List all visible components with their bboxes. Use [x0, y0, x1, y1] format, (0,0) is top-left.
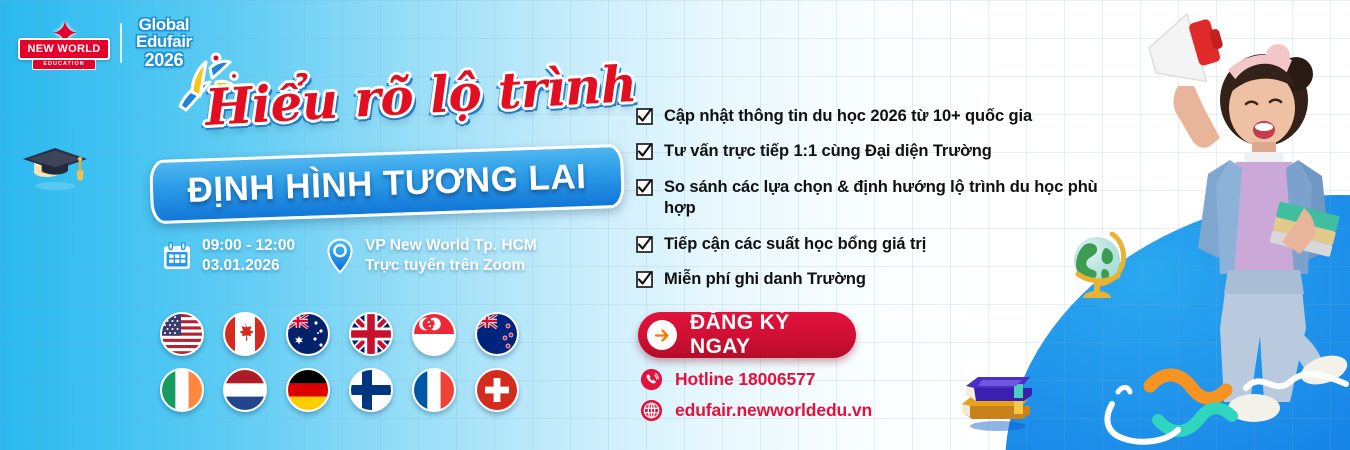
- list-item: Tư vấn trực tiếp 1:1 cùng Đại diện Trườn…: [636, 141, 1106, 162]
- flag-switzerland: [475, 368, 519, 412]
- brand-logo-group[interactable]: ✦ NEW WORLD EDUCATION Global Edufair 202…: [18, 16, 192, 69]
- splash-outline-icon: [1098, 382, 1208, 448]
- flag-germany: [286, 368, 330, 412]
- arrow-right-icon: [653, 326, 672, 345]
- event-meta: 09:00 - 12:00 03.01.2026 VP New World Tp…: [162, 236, 537, 276]
- event-online: Trực tuyến trên Zoom: [365, 256, 537, 276]
- map-pin-icon: [325, 237, 355, 275]
- checkbox-checked-icon: [636, 143, 653, 160]
- event-datetime-text: 09:00 - 12:00 03.01.2026: [202, 236, 295, 276]
- logo-divider: [120, 23, 122, 63]
- flag-finland: [349, 368, 393, 412]
- logo-subtitle: EDUCATION: [32, 59, 96, 70]
- benefit-text: Tư vấn trực tiếp 1:1 cùng Đại diện Trườn…: [664, 141, 992, 162]
- benefit-text: Cập nhật thông tin du học 2026 từ 10+ qu…: [664, 106, 1032, 127]
- country-flags: [160, 312, 580, 424]
- edufair-line-1: Global: [136, 16, 192, 33]
- graduation-cap-icon: [14, 118, 96, 200]
- headline-ribbon: ĐỊNH HÌNH TƯƠNG LAI: [149, 144, 625, 225]
- promo-banner: ✦ NEW WORLD EDUCATION Global Edufair 202…: [0, 0, 1350, 450]
- new-world-education-logo[interactable]: ✦ NEW WORLD EDUCATION: [18, 20, 106, 66]
- checkbox-checked-icon: [636, 236, 653, 253]
- flag-row-2: [160, 368, 580, 412]
- list-item: Cập nhật thông tin du học 2026 từ 10+ qu…: [636, 106, 1106, 127]
- website-text: edufair.newworldedu.vn: [675, 400, 872, 421]
- list-item: Tiếp cận các suất học bổng giá trị: [636, 234, 1106, 255]
- flag-united-kingdom: [349, 312, 393, 356]
- benefit-text: Miễn phí ghi danh Trường: [664, 269, 866, 290]
- checkbox-checked-icon: [636, 179, 653, 196]
- phone-icon: [640, 368, 663, 391]
- event-date: 03.01.2026: [202, 256, 295, 276]
- books-stack-icon: [952, 360, 1044, 434]
- cta-label: ĐĂNG KÝ NGAY: [690, 311, 856, 359]
- event-venue: VP New World Tp. HCM: [365, 236, 537, 256]
- list-item: Miễn phí ghi danh Trường: [636, 269, 1106, 290]
- benefits-list: Cập nhật thông tin du học 2026 từ 10+ qu…: [636, 106, 1106, 305]
- contact-info: Hotline 18006577 edufair.newworldedu.vn: [640, 368, 872, 430]
- flag-row-1: [160, 312, 580, 356]
- hotline-text: Hotline 18006577: [675, 369, 815, 390]
- flag-australia: [286, 312, 330, 356]
- calendar-icon: [162, 241, 192, 271]
- confetti-squiggle-white-icon: [1240, 360, 1350, 410]
- benefit-text: Tiếp cận các suất học bổng giá trị: [664, 234, 926, 255]
- list-item: So sánh các lựa chọn & định hướng lộ trì…: [636, 177, 1106, 220]
- checkbox-checked-icon: [636, 108, 653, 125]
- checkbox-checked-icon: [636, 271, 653, 288]
- headline-ribbon-text: ĐỊNH HÌNH TƯƠNG LAI: [152, 147, 622, 221]
- website-row[interactable]: edufair.newworldedu.vn: [640, 399, 872, 422]
- event-location: VP New World Tp. HCM Trực tuyến trên Zoo…: [325, 236, 537, 276]
- flag-netherlands: [223, 368, 267, 412]
- flag-new-zealand: [475, 312, 519, 356]
- hotline-row[interactable]: Hotline 18006577: [640, 368, 872, 391]
- flag-singapore: [412, 312, 456, 356]
- headline-script: Hiểu rõ lộ trình: [204, 58, 567, 137]
- logo-wordmark: NEW WORLD: [18, 38, 110, 60]
- flag-france: [412, 368, 456, 412]
- edufair-line-2: Edufair: [136, 33, 192, 50]
- register-now-button[interactable]: ĐĂNG KÝ NGAY: [638, 312, 856, 358]
- event-location-text: VP New World Tp. HCM Trực tuyến trên Zoo…: [365, 236, 537, 276]
- flag-united-states: [160, 312, 204, 356]
- benefit-text: So sánh các lựa chọn & định hướng lộ trì…: [664, 177, 1106, 220]
- cta-icon-circle: [647, 320, 677, 350]
- event-datetime: 09:00 - 12:00 03.01.2026: [162, 236, 295, 276]
- event-time: 09:00 - 12:00: [202, 236, 295, 256]
- flag-ireland: [160, 368, 204, 412]
- globe-icon: [640, 399, 663, 422]
- flag-canada: [223, 312, 267, 356]
